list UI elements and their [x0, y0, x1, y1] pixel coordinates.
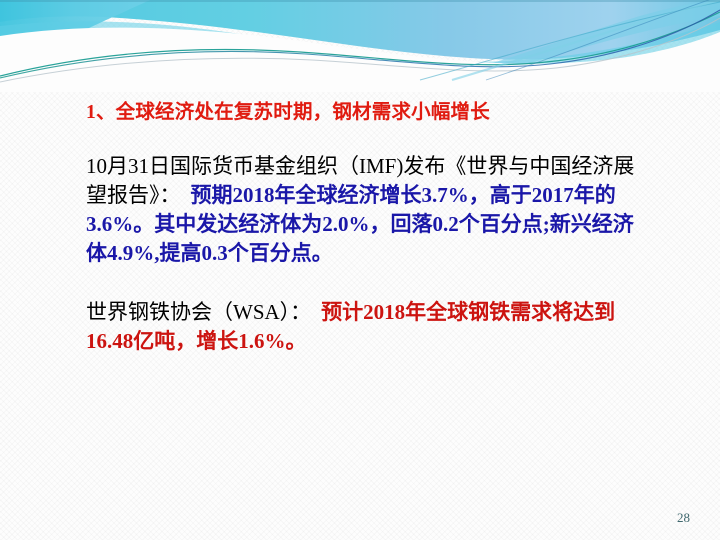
imf-paragraph: 10月31日国际货币基金组织（IMF)发布《世界与中国经济展望报告》：预期201… [86, 152, 646, 268]
section-heading: 1、全球经济处在复苏时期，钢材需求小幅增长 [86, 100, 646, 126]
page-number: 28 [677, 510, 690, 526]
header-wave-banner [0, 0, 720, 92]
slide-canvas: 1、全球经济处在复苏时期，钢材需求小幅增长 10月31日国际货币基金组织（IMF… [0, 0, 720, 540]
slide-body: 1、全球经济处在复苏时期，钢材需求小幅增长 10月31日国际货币基金组织（IMF… [86, 100, 646, 356]
wsa-paragraph: 世界钢铁协会（WSA）：预计2018年全球钢铁需求将达到16.48亿吨，增长1.… [86, 298, 646, 356]
wsa-paragraph-run-black: 世界钢铁协会（WSA）： [86, 300, 311, 324]
